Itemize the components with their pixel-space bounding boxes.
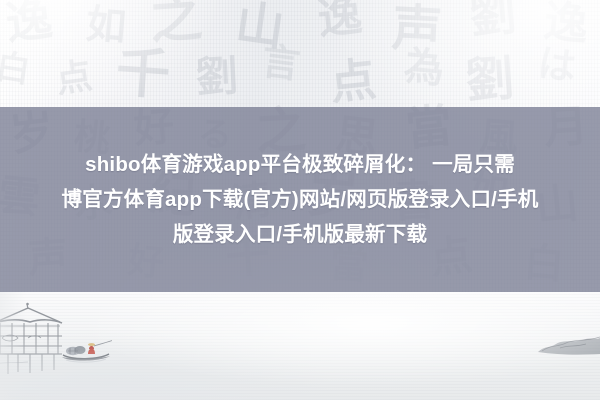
water-haze [0, 292, 600, 400]
headline-line-1: shibo体育游戏app平台极致碎屑化： 一局只需 [85, 147, 515, 182]
ink-wash-landscape [0, 292, 600, 400]
landscape-left-fade [0, 292, 26, 400]
screenshot-root: 逸 如 之 山 逸 声 劉 逸 白 点 千 劉 言 点 為 劉 は 岁 桃 好 … [0, 0, 600, 400]
headline-line-3: 版登录入口/手机版最新下载 [173, 217, 427, 252]
headline-block: shibo体育游戏app平台极致碎屑化： 一局只需 博官方体育app下载(官方)… [0, 107, 600, 292]
headline-line-2: 博官方体育app下载(官方)网站/网页版登录入口/手机 [62, 182, 539, 217]
